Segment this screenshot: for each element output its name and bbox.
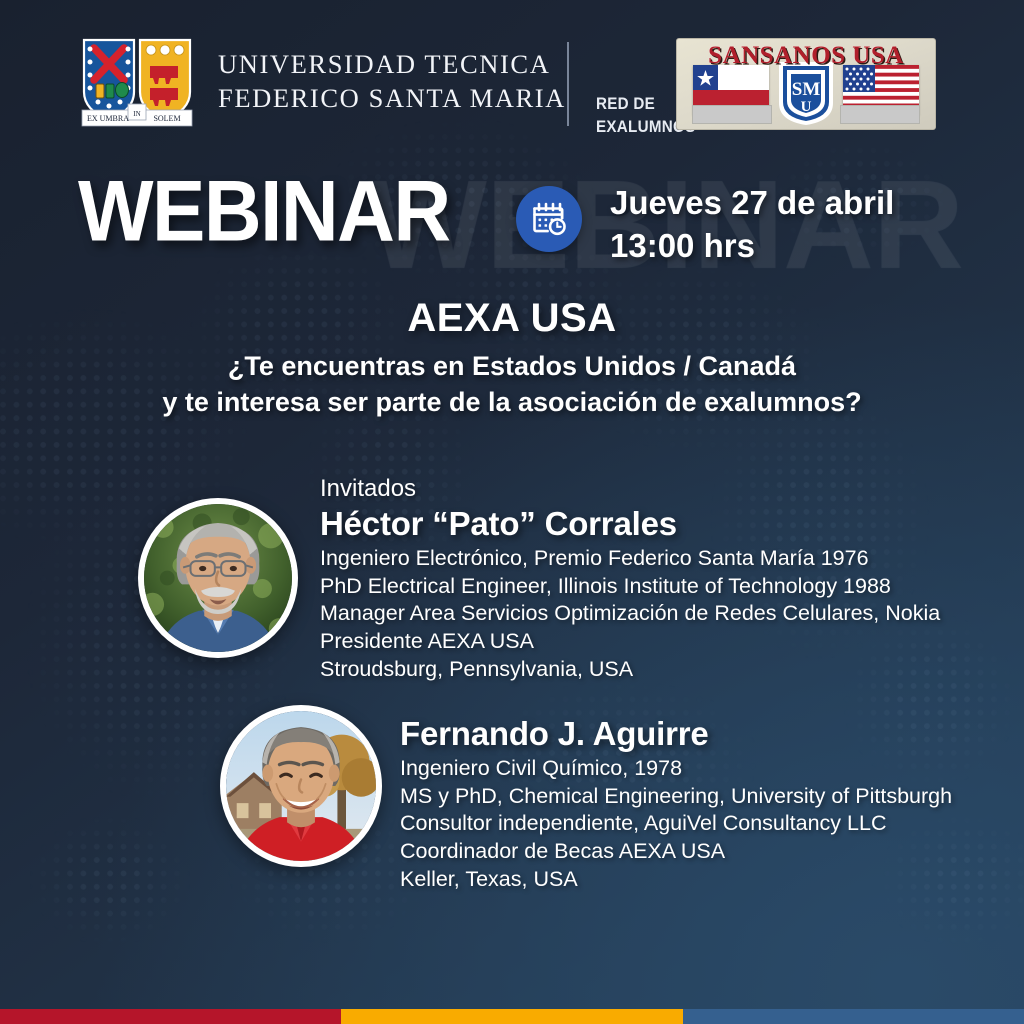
event-date: Jueves 27 de abril	[610, 182, 894, 225]
event-subtitle: ¿Te encuentras en Estados Unidos / Canad…	[0, 349, 1024, 421]
plate-slot-left	[692, 105, 772, 124]
event-time: 13:00 hrs	[610, 225, 894, 268]
speaker-1-line-2: PhD Electrical Engineer, Illinois Instit…	[320, 573, 940, 601]
speaker-2-line-5: Keller, Texas, USA	[400, 866, 952, 894]
university-name-line1: UNIVERSIDAD TECNICA	[218, 48, 566, 82]
speaker-1-line-4: Presidente AEXA USA	[320, 628, 940, 656]
plate-slot-right	[840, 105, 920, 124]
avatar-speaker-2	[220, 705, 382, 867]
usm-shield-letter: U	[801, 99, 812, 115]
bottom-bar-blue-segment	[683, 1009, 1024, 1024]
speaker-2-line-2: MS y PhD, Chemical Engineering, Universi…	[400, 783, 952, 811]
speaker-1-line-1: Ingeniero Electrónico, Premio Federico S…	[320, 545, 940, 573]
crest-motto-mid: IN	[133, 110, 140, 118]
avatar-speaker-1	[138, 498, 298, 658]
speaker-2-info: Fernando J. Aguirre Ingeniero Civil Quím…	[400, 715, 952, 894]
calendar-clock-glyph	[529, 199, 569, 239]
speaker-2-line-1: Ingeniero Civil Químico, 1978	[400, 755, 952, 783]
sansanos-usa-title: SANSANOS USA	[677, 42, 935, 70]
bottom-color-bar	[0, 1009, 1024, 1024]
crest-motto-right: SOLEM	[153, 114, 180, 123]
university-name: UNIVERSIDAD TECNICA FEDERICO SANTA MARIA	[218, 48, 566, 115]
event-subtitle-line1: ¿Te encuentras en Estados Unidos / Canad…	[0, 349, 1024, 385]
event-subtitle-line2: y te interesa ser parte de la asociación…	[0, 385, 1024, 421]
calendar-clock-icon	[516, 186, 582, 252]
header-divider	[567, 42, 569, 126]
speaker-1-portrait	[144, 504, 292, 652]
speaker-2-line-4: Coordinador de Becas AEXA USA	[400, 838, 952, 866]
speaker-2-name: Fernando J. Aguirre	[400, 715, 952, 753]
bottom-bar-red-segment	[0, 1009, 341, 1024]
event-title-block: AEXA USA ¿Te encuentras en Estados Unido…	[0, 296, 1024, 421]
speaker-2-credentials: Ingeniero Civil Químico, 1978 MS y PhD, …	[400, 755, 952, 894]
webinar-poster: EX UMBRA IN SOLEM UNIVERSIDAD TECNICA FE…	[0, 0, 1024, 1024]
sansanos-usa-logo: SANSANOS USA SM U	[676, 38, 936, 130]
poster-header: EX UMBRA IN SOLEM UNIVERSIDAD TECNICA FE…	[78, 36, 976, 132]
page-title: AEXA USA	[0, 296, 1024, 340]
crest-motto-left: EX UMBRA	[87, 114, 129, 123]
webinar-headline: WEBINAR	[78, 168, 450, 254]
university-name-line2: FEDERICO SANTA MARIA	[218, 82, 566, 116]
speaker-1-name: Héctor “Pato” Corrales	[320, 505, 940, 543]
bottom-bar-yellow-segment	[341, 1009, 683, 1024]
speaker-1-info: Héctor “Pato” Corrales Ingeniero Electró…	[320, 505, 940, 684]
speaker-2-line-3: Consultor independiente, AguiVel Consult…	[400, 810, 952, 838]
speaker-1-line-3: Manager Area Servicios Optimización de R…	[320, 600, 940, 628]
speaker-1-line-5: Stroudsburg, Pennsylvania, USA	[320, 656, 940, 684]
utfsm-crest-icon: EX UMBRA IN SOLEM	[78, 36, 196, 128]
usm-shield-text: SM	[792, 79, 821, 100]
speaker-2-portrait	[226, 711, 376, 861]
utfsm-logo-lockup: EX UMBRA IN SOLEM UNIVERSIDAD TECNICA FE…	[78, 36, 566, 128]
event-datetime: Jueves 27 de abril 13:00 hrs	[610, 182, 894, 267]
speakers-label: Invitados	[320, 475, 416, 503]
speaker-1-credentials: Ingeniero Electrónico, Premio Federico S…	[320, 545, 940, 684]
